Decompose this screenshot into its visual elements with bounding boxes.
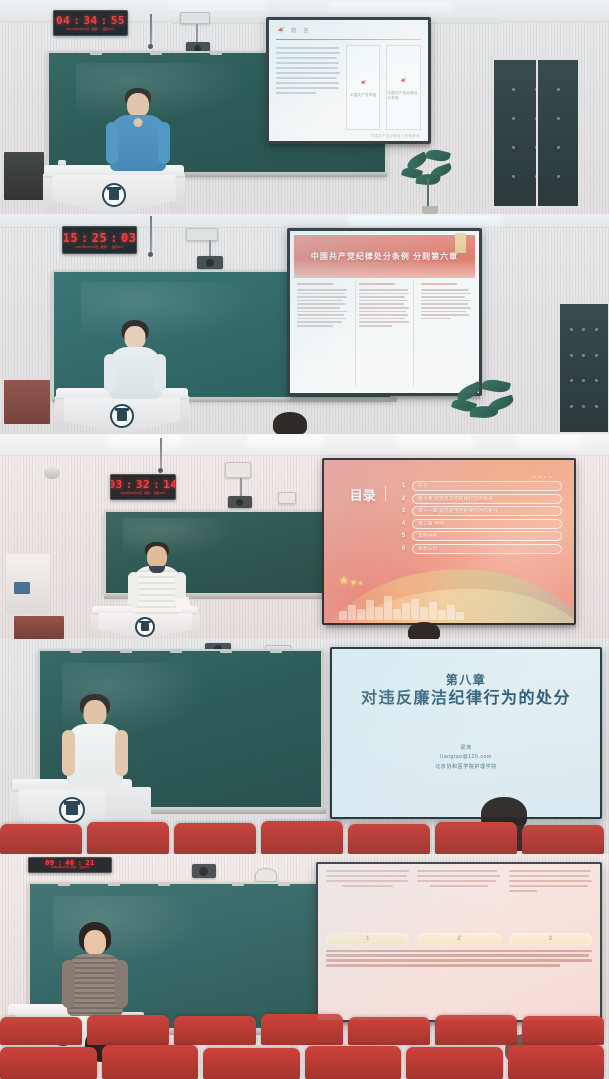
hair — [408, 622, 440, 639]
toc-label: 第十章 对违反工作纪律行为的处分 — [418, 496, 493, 502]
slide-footer-text: 中国共产党纪律处分条例解读 — [371, 133, 420, 138]
clock-subtext: 2025年08月18日 星期一 温度28℃ — [120, 492, 165, 495]
toc-pill: 第三编 附则 — [412, 519, 562, 529]
clock-subtext: 2025年08月18日 星期一 温度28℃ — [66, 28, 115, 31]
slide-banner-three-column: 中国共产党纪律处分条例 分则第六章 — [290, 231, 479, 393]
slide-columns — [294, 281, 475, 386]
microphone-capsule — [158, 468, 163, 473]
toc-label: 案例分析 — [418, 533, 438, 539]
projection-screen: 1 2 3 — [316, 862, 602, 1022]
toc-item: 4 第三编 附则 — [399, 519, 562, 529]
arm — [128, 572, 139, 608]
led-clock: 09 : 46 : 21 2025年08月18日 星期一 温度28℃ — [28, 857, 112, 873]
arm — [154, 354, 166, 392]
slide-title: 前 言 — [291, 27, 311, 34]
slide-heading-block: 目录 — [342, 489, 385, 503]
lecture-photo-3: 03 : 32 : 14 2025年08月18日 星期一 温度28℃ — [0, 434, 609, 639]
toc-item: 1 前言 — [399, 481, 562, 491]
slide-paragraph — [276, 45, 340, 130]
head — [84, 700, 107, 726]
slide-footer: 1 中国共产党纪律处分条例解读 — [277, 133, 420, 138]
toc-number: 3 — [399, 508, 408, 514]
seat — [174, 1016, 256, 1045]
projector-housing — [180, 12, 210, 24]
slide-three-column-badges: 1 2 3 — [318, 864, 600, 1020]
toc-pill: 体会认识 — [412, 544, 562, 554]
board-clip — [170, 649, 182, 653]
seat — [348, 824, 430, 854]
board-clip — [120, 649, 132, 653]
board-clip — [90, 51, 102, 55]
arm — [62, 960, 75, 1008]
microphone-capsule — [148, 252, 153, 257]
toc-label: 前言 — [418, 483, 428, 489]
collage-panel-3: 03 : 32 : 14 2025年08月18日 星期一 温度28℃ — [0, 434, 609, 639]
camera-lens-icon — [206, 259, 214, 267]
institution-emblem-icon — [110, 404, 134, 428]
presenter-person — [128, 542, 186, 612]
clock-hours: 03 — [110, 479, 123, 490]
seat — [406, 1047, 503, 1079]
title-rule — [276, 39, 421, 40]
head — [147, 546, 167, 568]
toc-pill: 前言 — [412, 481, 562, 491]
slide-summary-paragraph — [326, 950, 592, 967]
collage-panel-2: 15 : 25 : 03 2025年08月18日 星期一 温度28℃ — [0, 214, 609, 434]
slide-card: 中国共产党章程 — [346, 45, 381, 130]
seat — [305, 1046, 402, 1079]
clock-separator: : — [73, 15, 80, 26]
arm — [106, 122, 118, 164]
seat — [508, 1045, 605, 1079]
slide-columns — [326, 870, 592, 928]
board-clip — [158, 882, 170, 886]
ceiling-light — [520, 436, 580, 445]
auditorium-seats-row — [0, 1045, 609, 1079]
seat — [435, 822, 517, 854]
clock-separator: : — [126, 479, 133, 490]
seat — [261, 1014, 343, 1045]
party-emblem-icon — [276, 25, 286, 35]
collar-opening — [134, 118, 143, 127]
slide-title: 中国共产党纪律处分条例 分则第六章 — [311, 251, 458, 262]
arm — [62, 730, 75, 776]
dome-security-camera — [44, 466, 60, 479]
classroom-door — [492, 58, 580, 208]
board-clip — [108, 882, 120, 886]
lecture-photo-4: 第八章 对违反廉洁纪律行为的处分 梁涛 liangtao@126.com 北京协… — [0, 639, 609, 854]
clock-separator: : — [110, 232, 118, 244]
door-studs — [565, 317, 603, 419]
presenter-person — [62, 694, 128, 786]
toc-item: 5 案例分析 — [399, 531, 562, 541]
toc-list: 1 前言 2 第十章 对违反工作纪律行为的处分 3 第十一章 对违反生活纪律行为… — [399, 481, 562, 554]
head — [125, 326, 146, 349]
arm — [115, 730, 128, 776]
seat — [522, 1016, 604, 1045]
toc-label: 第十一章 对违反生活纪律行为的处分 — [418, 508, 498, 514]
lecture-photo-2: 15 : 25 : 03 2025年08月18日 星期一 温度28℃ — [0, 214, 609, 434]
board-clip — [220, 649, 232, 653]
presentation-screen: 中国共产党纪律处分条例 分则第六章 — [287, 228, 482, 396]
led-clock: 15 : 25 : 03 2025年08月18日 星期一 温度28℃ — [62, 226, 137, 254]
projector-housing — [225, 462, 251, 478]
water-cooler — [6, 554, 50, 614]
toc-number: 5 — [399, 533, 408, 539]
board-clip — [278, 882, 290, 886]
camera-stem — [240, 478, 242, 498]
audience-person — [268, 412, 312, 434]
institution-emblem-icon — [102, 183, 126, 207]
institution-emblem-icon — [135, 617, 155, 637]
slide-title-line-2: 对违反廉洁纪律行为的处分 — [361, 689, 571, 709]
party-emblem-icon — [359, 78, 368, 87]
board-clip — [232, 882, 244, 886]
clock-subtext: 2025年08月18日 星期一 温度28℃ — [75, 246, 124, 249]
board-clip — [270, 649, 282, 653]
presenter-person — [62, 922, 128, 1018]
clock-seconds: 14 — [163, 479, 176, 490]
slide-title-line-1: 第八章 — [446, 673, 487, 688]
badge: 2 — [417, 933, 500, 946]
seat — [203, 1048, 300, 1079]
ceiling-light — [330, 2, 450, 9]
projection-screen: 第八章 对违反廉洁纪律行为的处分 梁涛 liangtao@126.com 北京协… — [330, 647, 602, 819]
microphone-capsule — [148, 44, 153, 49]
presenter-person — [104, 88, 172, 170]
slide-column — [417, 870, 500, 928]
slide-body: 中国共产党章程 中国共产党纪律处分条例 — [276, 45, 421, 130]
seat — [0, 1017, 82, 1045]
potted-plant — [452, 378, 522, 434]
ceiling-light — [250, 436, 320, 445]
projector-housing — [186, 228, 218, 241]
star-decoration: ★ ★ ★ — [339, 576, 363, 587]
led-clock: 04 : 34 : 55 2025年08月18日 星期一 温度28℃ — [53, 10, 128, 36]
seat — [174, 823, 256, 854]
board-clip — [150, 51, 162, 55]
arm — [104, 354, 116, 392]
arm — [115, 960, 128, 1008]
seat — [435, 1015, 517, 1045]
slide-column — [326, 870, 409, 928]
projection-screen: 目录 ★ ★ ★ ^^^^ 1 前言 — [322, 458, 576, 625]
board-clip — [70, 649, 82, 653]
toc-number: 6 — [399, 546, 408, 552]
head — [84, 930, 106, 955]
toc-number: 2 — [399, 496, 408, 502]
arm — [158, 122, 170, 164]
seat — [348, 1017, 430, 1045]
cooler-tap — [14, 582, 30, 594]
slide-table-of-contents: 目录 ★ ★ ★ ^^^^ 1 前言 — [324, 460, 574, 623]
clock-minutes: 32 — [136, 479, 150, 490]
clock-separator: : — [153, 479, 160, 490]
collage-panel-1: 04 : 34 : 55 2025年08月18日 星期一 温度28℃ — [0, 0, 609, 214]
toc-label: 体会认识 — [418, 546, 438, 552]
clock-hours: 15 — [63, 232, 78, 244]
badge: 3 — [509, 933, 592, 946]
toc-pill: 第十一章 对违反生活纪律行为的处分 — [412, 506, 562, 516]
seat — [102, 1045, 199, 1079]
badge: 1 — [326, 933, 409, 946]
wall-speaker — [278, 492, 296, 504]
slide-institution: 北京协和医学院护理学院 — [435, 763, 497, 770]
slide-party-document: 前 言 — [269, 20, 428, 141]
lecture-photo-1: 04 : 34 : 55 2025年08月18日 星期一 温度28℃ — [0, 0, 609, 214]
camera-lens-icon — [236, 499, 243, 506]
seat — [0, 1047, 97, 1079]
slide-column — [509, 870, 592, 928]
auditorium-seats-row — [0, 820, 609, 854]
toc-number: 4 — [399, 521, 408, 527]
ceiling-light — [110, 436, 180, 445]
slide-column — [294, 281, 351, 386]
side-cabinet — [4, 152, 44, 200]
lectern — [44, 165, 184, 214]
camera-lens-icon — [199, 867, 208, 876]
photo-collage: 04 : 34 : 55 2025年08月18日 星期一 温度28℃ — [0, 0, 609, 1079]
lecture-photo-5: 09 : 46 : 21 2025年08月18日 星期一 温度28℃ — [0, 854, 609, 1079]
slide-author: 梁涛 — [460, 744, 471, 751]
clock-hours: 04 — [56, 15, 70, 26]
collage-panel-4: 第八章 对违反廉洁纪律行为的处分 梁涛 liangtao@126.com 北京协… — [0, 639, 609, 854]
toc-pill: 案例分析 — [412, 531, 562, 541]
ceiling-microphone — [160, 438, 162, 470]
slide-column — [418, 281, 475, 386]
presenter-person — [104, 320, 166, 398]
slide-page-number: 1 — [277, 134, 279, 138]
ceiling-microphone — [150, 14, 152, 46]
seat — [87, 822, 169, 854]
heading-divider — [385, 486, 387, 500]
led-clock: 03 : 32 : 14 2025年08月18日 星期一 温度28℃ — [110, 474, 176, 500]
board-clip — [58, 882, 70, 886]
slide-column — [355, 281, 414, 386]
banner-tab-decoration — [455, 233, 466, 253]
classroom-door — [558, 302, 609, 434]
slide-cards: 中国共产党章程 中国共产党纪律处分条例 — [346, 45, 421, 130]
toc-item: 2 第十章 对违反工作纪律行为的处分 — [399, 494, 562, 504]
seat — [522, 825, 604, 854]
seat — [261, 821, 343, 854]
ceiling-light — [350, 216, 500, 223]
skyline-decoration — [339, 590, 464, 619]
clock-seconds: 55 — [111, 15, 125, 26]
slide-author-block: 梁涛 liangtao@126.com 北京协和医学院护理学院 — [435, 744, 497, 770]
party-emblem-icon — [399, 76, 408, 85]
slide-email: liangtao@126.com — [440, 754, 491, 760]
slide-badges: 1 2 3 — [326, 933, 592, 946]
clock-seconds: 03 — [121, 232, 136, 244]
clock-separator: : — [81, 232, 89, 244]
screen-shadow — [326, 625, 576, 630]
slide-header: 前 言 — [276, 25, 421, 35]
camera-stem — [209, 240, 211, 256]
seat — [87, 1015, 169, 1045]
presentation-screen: 前 言 — [266, 17, 431, 144]
projector-housing — [255, 868, 277, 882]
plant-pot — [422, 206, 438, 214]
potted-plant — [400, 148, 460, 214]
clock-separator: : — [101, 15, 108, 26]
audience-person — [404, 622, 444, 639]
clock-minutes: 25 — [92, 232, 107, 244]
hair — [273, 412, 307, 434]
camera-stem — [196, 24, 198, 42]
door-center-seam — [536, 60, 538, 206]
ceiling-light — [400, 436, 470, 445]
slide-banner: 中国共产党纪律处分条例 分则第六章 — [294, 235, 475, 278]
slide-card: 中国共产党纪律处分条例 — [386, 45, 421, 130]
toc-label: 第三编 附则 — [418, 521, 444, 527]
ceiling-microphone — [150, 216, 152, 254]
card-caption: 中国共产党纪律处分条例 — [387, 90, 420, 100]
clock-minutes: 34 — [83, 15, 97, 26]
toc-item: 3 第十一章 对违反生活纪律行为的处分 — [399, 506, 562, 516]
board-clip — [210, 51, 222, 55]
collage-panel-5: 09 : 46 : 21 2025年08月18日 星期一 温度28℃ — [0, 854, 609, 1079]
toc-number: 1 — [399, 483, 408, 489]
side-cabinet — [4, 380, 50, 424]
seat — [0, 824, 82, 854]
clock-subtext: 2025年08月18日 星期一 温度28℃ — [51, 867, 90, 869]
toc-pill: 第十章 对违反工作纪律行为的处分 — [412, 494, 562, 504]
red-cabinet — [14, 616, 64, 639]
toc-item: 6 体会认识 — [399, 544, 562, 554]
ceiling-light — [170, 1, 265, 7]
slide-heading: 目录 — [350, 489, 376, 503]
auditorium-seats-row — [0, 1013, 609, 1045]
slide-chapter-title: 第八章 对违反廉洁纪律行为的处分 梁涛 liangtao@126.com 北京协… — [332, 649, 600, 817]
card-caption: 中国共产党章程 — [350, 92, 377, 97]
head — [127, 93, 149, 117]
